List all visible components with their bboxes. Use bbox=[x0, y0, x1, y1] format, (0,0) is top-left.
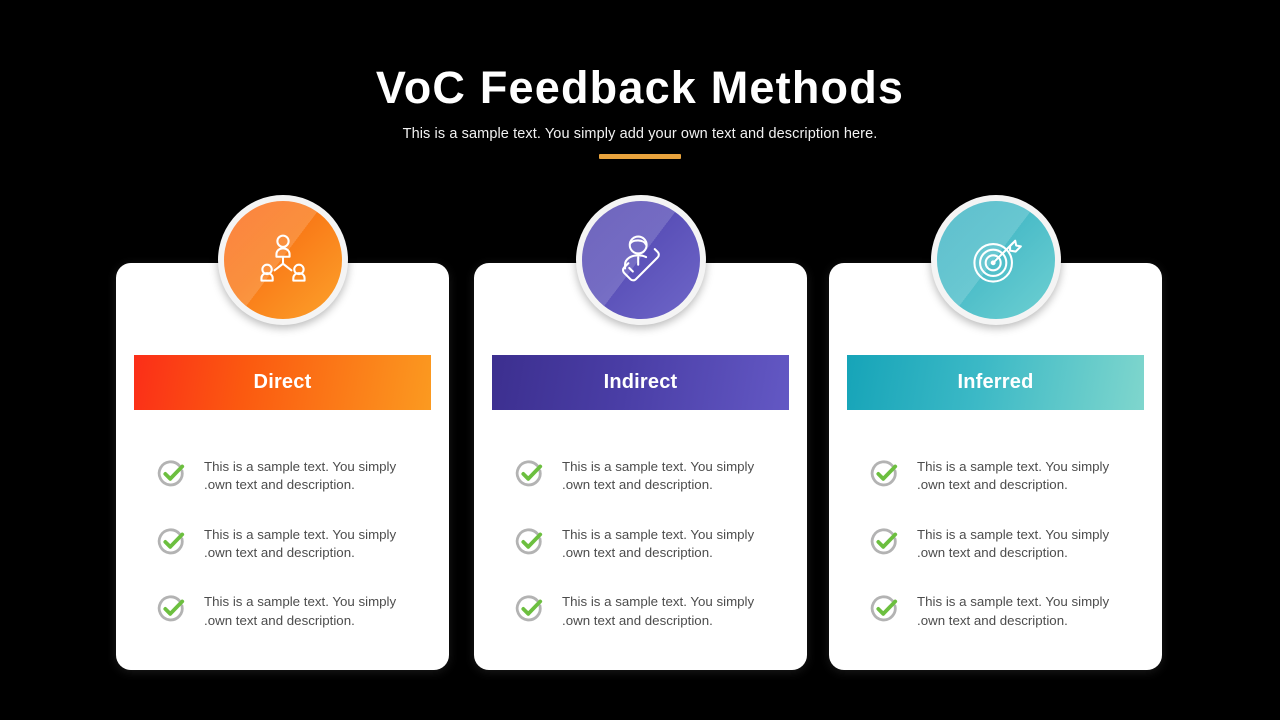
list-item-line1: This is a sample text. You simply bbox=[917, 594, 1109, 609]
list-item-text: This is a sample text. You simply .own t… bbox=[204, 455, 396, 495]
list-item-text: This is a sample text. You simply .own t… bbox=[204, 523, 396, 563]
list-item-line1: This is a sample text. You simply bbox=[204, 527, 396, 542]
icon-badge-direct bbox=[218, 195, 348, 325]
list-item-text: This is a sample text. You simply .own t… bbox=[917, 590, 1109, 630]
list-item-line2: .own text and description. bbox=[917, 476, 1109, 494]
list-item-text: This is a sample text. You simply .own t… bbox=[562, 590, 754, 630]
list-item-line2: .own text and description. bbox=[917, 544, 1109, 562]
card-indirect[interactable]: Indirect This is a sample text. You simp… bbox=[474, 263, 807, 670]
list-item: This is a sample text. You simply .own t… bbox=[829, 523, 1162, 563]
bullet-list-direct: This is a sample text. You simply .own t… bbox=[116, 455, 449, 658]
card-band-direct: Direct bbox=[134, 355, 431, 410]
list-item-line2: .own text and description. bbox=[204, 612, 396, 630]
check-circle-icon bbox=[868, 592, 901, 625]
list-item-line2: .own text and description. bbox=[917, 612, 1109, 630]
slide-root: VoC Feedback Methods This is a sample te… bbox=[0, 0, 1280, 720]
list-item-line1: This is a sample text. You simply bbox=[917, 527, 1109, 542]
check-circle-icon bbox=[868, 525, 901, 558]
list-item-text: This is a sample text. You simply .own t… bbox=[204, 590, 396, 630]
list-item-line2: .own text and description. bbox=[562, 476, 754, 494]
check-circle-icon bbox=[513, 525, 546, 558]
check-circle-icon bbox=[513, 457, 546, 490]
list-item-text: This is a sample text. You simply .own t… bbox=[562, 523, 754, 563]
page-subtitle: This is a sample text. You simply add yo… bbox=[0, 126, 1280, 142]
check-circle-icon bbox=[868, 457, 901, 490]
person-checkmark-icon bbox=[611, 230, 671, 290]
list-item-line1: This is a sample text. You simply bbox=[562, 527, 754, 542]
list-item-line2: .own text and description. bbox=[562, 544, 754, 562]
list-item-text: This is a sample text. You simply .own t… bbox=[917, 455, 1109, 495]
list-item-line2: .own text and description. bbox=[204, 476, 396, 494]
title-underline-divider bbox=[599, 154, 681, 159]
list-item: This is a sample text. You simply .own t… bbox=[474, 455, 807, 495]
list-item-line1: This is a sample text. You simply bbox=[562, 594, 754, 609]
cards-row: Direct This is a sample text. You simply… bbox=[0, 263, 1280, 673]
list-item: This is a sample text. You simply .own t… bbox=[116, 523, 449, 563]
icon-circle-indirect bbox=[582, 201, 700, 319]
check-circle-icon bbox=[513, 592, 546, 625]
card-title-inferred: Inferred bbox=[957, 371, 1033, 394]
icon-badge-inferred bbox=[931, 195, 1061, 325]
bullet-list-inferred: This is a sample text. You simply .own t… bbox=[829, 455, 1162, 658]
bullet-list-indirect: This is a sample text. You simply .own t… bbox=[474, 455, 807, 658]
icon-badge-indirect bbox=[576, 195, 706, 325]
list-item-line1: This is a sample text. You simply bbox=[917, 459, 1109, 474]
card-inferred[interactable]: Inferred This is a sample text. You simp… bbox=[829, 263, 1162, 670]
card-band-indirect: Indirect bbox=[492, 355, 789, 410]
icon-circle-direct bbox=[224, 201, 342, 319]
list-item-line2: .own text and description. bbox=[562, 612, 754, 630]
target-arrow-icon bbox=[966, 230, 1026, 290]
list-item-line1: This is a sample text. You simply bbox=[204, 459, 396, 474]
people-network-icon bbox=[253, 230, 313, 290]
list-item: This is a sample text. You simply .own t… bbox=[829, 455, 1162, 495]
card-title-indirect: Indirect bbox=[604, 371, 678, 394]
slide-header: VoC Feedback Methods This is a sample te… bbox=[0, 62, 1280, 159]
list-item: This is a sample text. You simply .own t… bbox=[116, 455, 449, 495]
check-circle-icon bbox=[155, 592, 188, 625]
card-direct[interactable]: Direct This is a sample text. You simply… bbox=[116, 263, 449, 670]
page-title: VoC Feedback Methods bbox=[0, 62, 1280, 114]
list-item-line1: This is a sample text. You simply bbox=[562, 459, 754, 474]
list-item: This is a sample text. You simply .own t… bbox=[829, 590, 1162, 630]
card-band-inferred: Inferred bbox=[847, 355, 1144, 410]
list-item: This is a sample text. You simply .own t… bbox=[474, 590, 807, 630]
list-item: This is a sample text. You simply .own t… bbox=[474, 523, 807, 563]
list-item-text: This is a sample text. You simply .own t… bbox=[917, 523, 1109, 563]
check-circle-icon bbox=[155, 525, 188, 558]
check-circle-icon bbox=[155, 457, 188, 490]
icon-circle-inferred bbox=[937, 201, 1055, 319]
card-title-direct: Direct bbox=[254, 371, 312, 394]
list-item-text: This is a sample text. You simply .own t… bbox=[562, 455, 754, 495]
list-item-line1: This is a sample text. You simply bbox=[204, 594, 396, 609]
list-item-line2: .own text and description. bbox=[204, 544, 396, 562]
list-item: This is a sample text. You simply .own t… bbox=[116, 590, 449, 630]
